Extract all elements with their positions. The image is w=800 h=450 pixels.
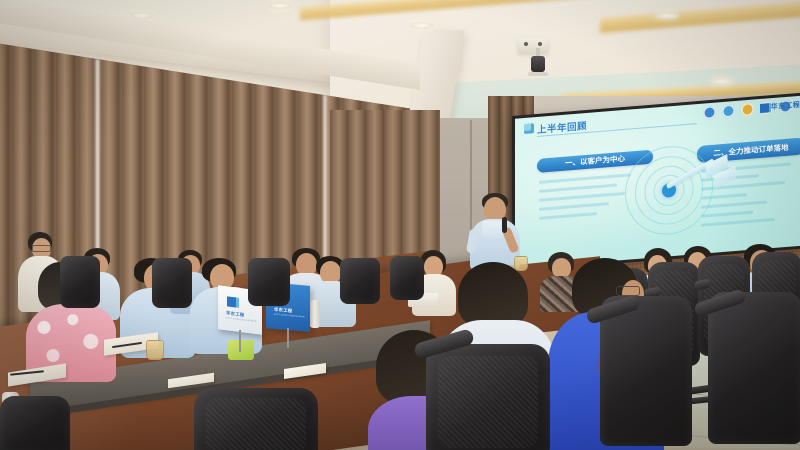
office-chair[interactable]	[248, 258, 290, 306]
downlight-icon	[268, 2, 292, 9]
flag-logo-sub: EAST CHINA ENGINEERING	[274, 314, 305, 319]
search-icon	[741, 103, 754, 117]
clock-icon	[722, 104, 735, 118]
logo-mark-icon	[760, 103, 769, 113]
slide-surface: 上半年回顾 华东工程 一、以客户为中心 二、全力	[515, 95, 800, 268]
office-chair-front[interactable]	[556, 296, 692, 450]
office-chair[interactable]	[152, 258, 192, 308]
office-chair[interactable]	[340, 258, 380, 304]
downlight-icon	[655, 12, 679, 19]
logo-mark-icon	[227, 296, 236, 307]
ceiling-projector	[528, 48, 548, 78]
downlight-icon	[410, 22, 434, 29]
office-chair-front[interactable]	[186, 384, 326, 450]
eyeglasses-icon	[32, 245, 51, 252]
glass-mug	[146, 340, 164, 360]
slide-bullet-square-icon	[524, 123, 534, 134]
slide-section-1-bullets	[539, 173, 635, 226]
office-chair-front[interactable]	[414, 330, 564, 450]
downlight-icon	[710, 78, 734, 85]
company-logo: 华东工程	[760, 100, 800, 113]
meeting-room-photo: 上半年回顾 华东工程 一、以客户为中心 二、全力	[0, 0, 800, 450]
office-chair-front[interactable]	[690, 292, 800, 450]
office-chair[interactable]	[390, 256, 424, 300]
microphone-icon	[502, 217, 507, 233]
office-chair[interactable]	[60, 256, 100, 308]
chart-icon	[703, 106, 716, 120]
target-graphic	[623, 141, 715, 240]
eyeglasses-icon	[616, 286, 640, 296]
office-chair-front[interactable]	[0, 396, 70, 450]
logo-text: 华东工程	[771, 100, 800, 112]
